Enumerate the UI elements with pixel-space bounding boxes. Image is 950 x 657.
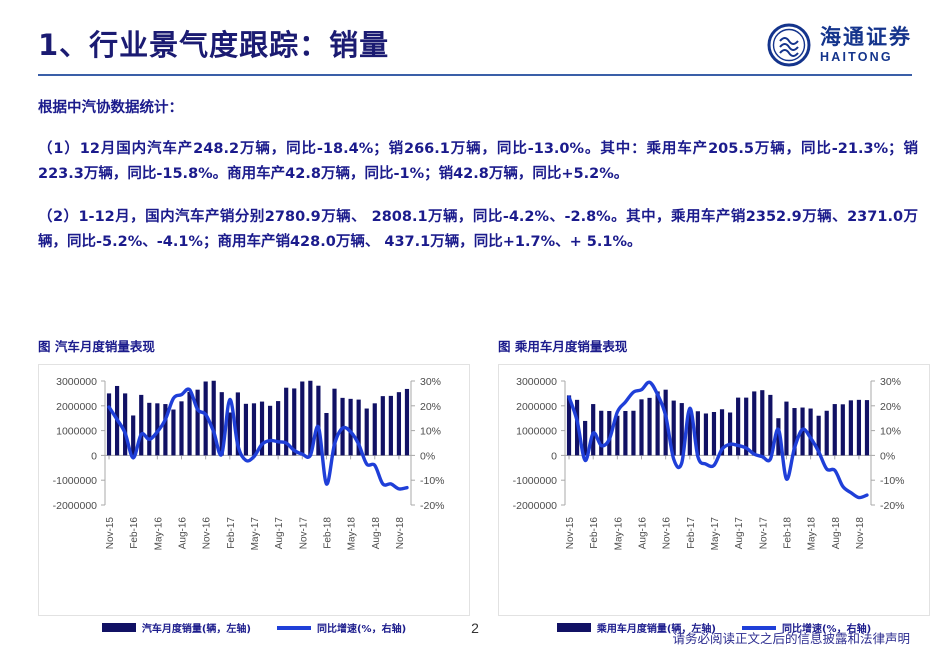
svg-text:Aug-16: Aug-16	[178, 517, 189, 550]
svg-text:Aug-16: Aug-16	[638, 517, 649, 550]
chart-plot-frame: 3000000200000010000000-1000000-200000030…	[498, 364, 930, 616]
svg-text:May-16: May-16	[153, 517, 164, 551]
svg-text:May-18: May-18	[347, 517, 358, 551]
svg-text:-10%: -10%	[420, 475, 445, 487]
svg-text:30%: 30%	[880, 376, 901, 388]
page-title: 1、行业景气度跟踪：销量	[38, 22, 389, 64]
brand-logo-text: 海通证券 HAITONG	[820, 27, 912, 64]
svg-text:-10%: -10%	[880, 475, 905, 487]
svg-text:Aug-18: Aug-18	[371, 517, 382, 550]
svg-text:Feb-18: Feb-18	[782, 517, 793, 549]
svg-text:3000000: 3000000	[516, 376, 557, 388]
svg-text:May-17: May-17	[710, 517, 721, 551]
footer-disclaimer: 请务必阅读正文之后的信息披露和法律声明	[672, 628, 910, 647]
svg-text:2000000: 2000000	[516, 401, 557, 413]
svg-text:2000000: 2000000	[56, 401, 97, 413]
svg-text:Aug-18: Aug-18	[831, 517, 842, 550]
svg-text:Nov-15: Nov-15	[105, 517, 116, 550]
svg-text:Nov-17: Nov-17	[298, 517, 309, 550]
svg-text:20%: 20%	[880, 401, 901, 413]
paragraph-1: （1）12月国内汽车产248.2万辆，同比-18.4%；销266.1万辆，同比-…	[38, 137, 918, 187]
svg-text:May-16: May-16	[613, 517, 624, 551]
svg-text:1000000: 1000000	[516, 426, 557, 438]
svg-text:30%: 30%	[420, 376, 441, 388]
chart-canvas: 3000000200000010000000-1000000-200000030…	[499, 365, 931, 617]
chart-auto-monthly-sales: 图 汽车月度销量表现 3000000200000010000000-100000…	[38, 336, 470, 635]
svg-text:Aug-17: Aug-17	[274, 517, 285, 550]
chart-title: 图 汽车月度销量表现	[38, 336, 470, 355]
svg-text:1000000: 1000000	[56, 426, 97, 438]
svg-text:Feb-16: Feb-16	[589, 517, 600, 549]
svg-text:-20%: -20%	[420, 500, 445, 512]
svg-text:May-18: May-18	[807, 517, 818, 551]
brand-name-cn: 海通证券	[820, 27, 912, 48]
svg-text:-1000000: -1000000	[53, 475, 98, 487]
svg-text:-2000000: -2000000	[53, 500, 98, 512]
svg-text:Nov-18: Nov-18	[855, 517, 866, 550]
paragraph-lead: 根据中汽协数据统计：	[38, 96, 918, 121]
svg-text:Nov-16: Nov-16	[202, 517, 213, 550]
svg-text:Feb-18: Feb-18	[322, 517, 333, 549]
svg-text:May-17: May-17	[250, 517, 261, 551]
svg-text:Feb-16: Feb-16	[129, 517, 140, 549]
svg-text:Nov-15: Nov-15	[565, 517, 576, 550]
chart-plot-frame: 3000000200000010000000-1000000-200000030…	[38, 364, 470, 616]
svg-text:Feb-17: Feb-17	[686, 517, 697, 549]
svg-text:0%: 0%	[880, 450, 895, 462]
svg-text:20%: 20%	[420, 401, 441, 413]
chart-canvas: 3000000200000010000000-1000000-200000030…	[39, 365, 471, 617]
svg-text:-2000000: -2000000	[513, 500, 558, 512]
svg-text:Nov-17: Nov-17	[758, 517, 769, 550]
paragraph-2: （2）1-12月，国内汽车产销分别2780.9万辆、 2808.1万辆，同比-4…	[38, 205, 918, 255]
svg-text:10%: 10%	[880, 426, 901, 438]
svg-text:3000000: 3000000	[56, 376, 97, 388]
chart-passenger-car-monthly-sales: 图 乘用车月度销量表现 3000000200000010000000-10000…	[498, 336, 930, 635]
svg-text:Nov-18: Nov-18	[395, 517, 406, 550]
brand-logo: 海通证券 HAITONG	[767, 22, 912, 68]
svg-text:0: 0	[91, 450, 97, 462]
header-divider	[38, 74, 912, 76]
svg-text:Feb-17: Feb-17	[226, 517, 237, 549]
brand-name-en: HAITONG	[820, 51, 893, 64]
page-header: 1、行业景气度跟踪：销量 海通证券 HAITONG	[0, 0, 950, 84]
svg-text:-1000000: -1000000	[513, 475, 558, 487]
svg-text:10%: 10%	[420, 426, 441, 438]
svg-text:Aug-17: Aug-17	[734, 517, 745, 550]
svg-text:Nov-16: Nov-16	[662, 517, 673, 550]
svg-text:0: 0	[551, 450, 557, 462]
body-text: 根据中汽协数据统计： （1）12月国内汽车产248.2万辆，同比-18.4%；销…	[38, 96, 918, 255]
haitong-seal-icon	[767, 23, 811, 67]
chart-title: 图 乘用车月度销量表现	[498, 336, 930, 355]
svg-text:-20%: -20%	[880, 500, 905, 512]
svg-text:0%: 0%	[420, 450, 435, 462]
